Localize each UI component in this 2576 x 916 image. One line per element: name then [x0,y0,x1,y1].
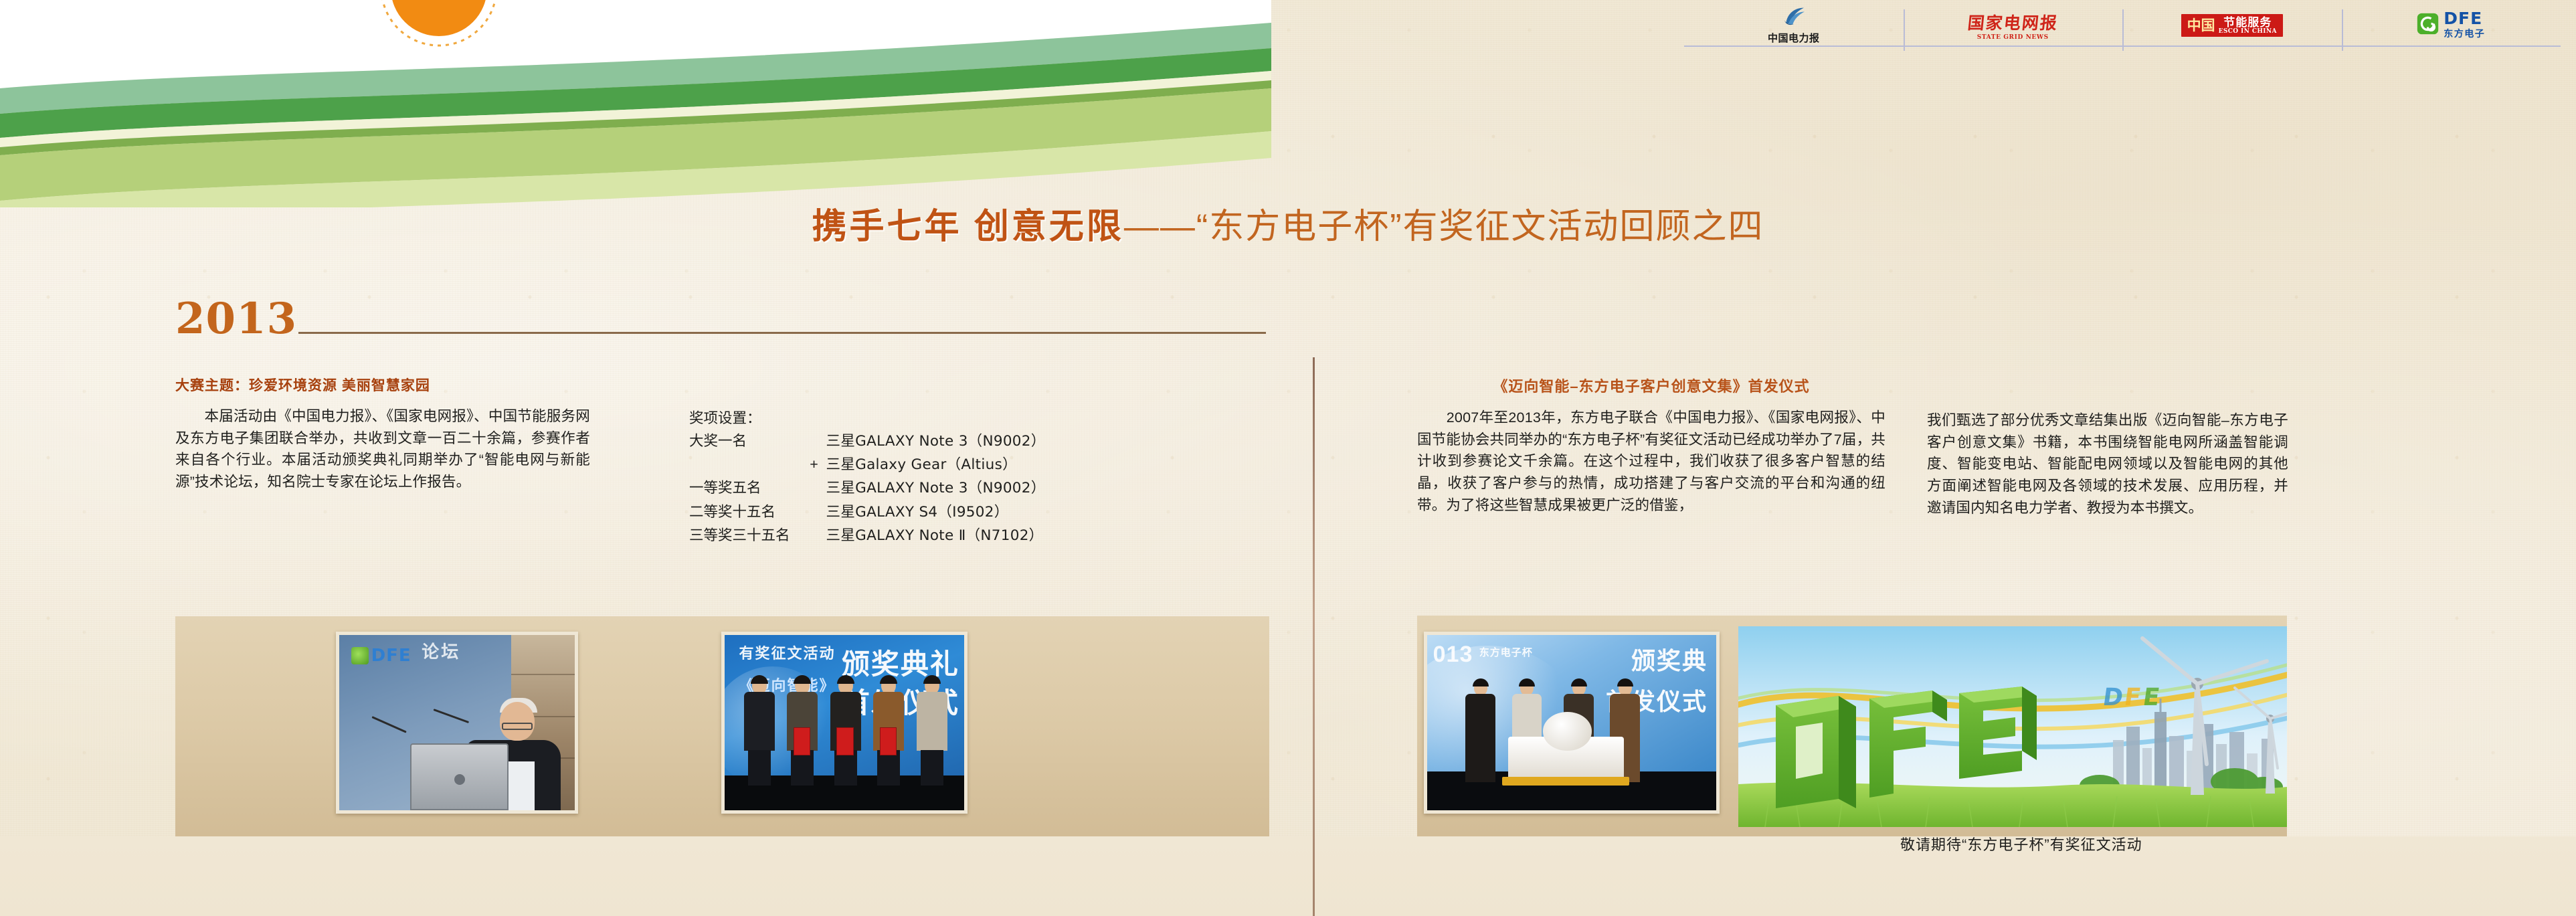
photo3-banner-year: 013 [1433,642,1473,668]
table-row: + 三星Galaxy Gear（Altius） [689,453,1046,476]
table-row: 大奖一名 三星GALAXY Note 3（N9002） [689,430,1046,453]
speaker-at-podium-photo: 论坛 DFE [336,632,578,814]
awards-column: 奖项设置： 大奖一名 三星GALAXY Note 3（N9002） + 三星Ga… [689,407,1245,547]
photo1-banner-text: 论坛 [422,638,460,663]
table-row: 三等奖三十五名 三星GALAXY Note Ⅱ（N7102） [689,524,1046,547]
section-divider [1313,357,1315,916]
photo1-dfe-label: DFE [371,646,411,666]
page-title: 携手七年 创意无限——“东方电子杯”有奖征文活动回顾之四 [0,198,2576,248]
left-column: 大赛主题：珍爱环境资源 美丽智慧家园 本届活动由《中国电力报》、《国家电网报》、… [175,375,590,493]
year-rule-divider [298,332,1266,334]
dfe-green-energy-illustration: D F E [1738,626,2287,827]
award-name: 一等奖五名 [689,476,802,500]
dfe-swirl-icon [2417,13,2439,38]
dfe-label-en: DFE [2444,11,2485,27]
award-plus [802,524,826,547]
award-prize: 三星GALAXY Note Ⅱ（N7102） [826,524,1046,547]
esco-seal-icon: 中国 [2187,19,2215,33]
table-row: 二等奖十五名 三星GALAXY S4（I9502） [689,500,1046,524]
dfe-label-cn: 东方电子 [2444,27,2485,40]
page-title-main: 携手七年 创意无限 [812,207,1123,246]
cepn-mark-icon [1782,7,1805,30]
orange-sun-decoration [372,0,506,55]
sgn-label-cn: 国家电网报 [1966,10,2059,34]
green-swoosh-decoration [0,0,1271,207]
right-column-b: 我们甄选了部分优秀文章结集出版《迈向智能–东方电子客户创意文集》书籍，本书围绕智… [1927,409,2288,519]
award-prize: 三星GALAXY Note 3（N9002） [826,430,1046,453]
award-name: 二等奖十五名 [689,500,802,524]
cepn-label: 中国电力报 [1768,31,1820,45]
awards-title: 奖项设置： [689,407,1245,428]
award-prize: 三星Galaxy Gear（Altius） [826,453,1046,476]
right-column-a: 《迈向智能–东方电子客户创意文集》首发仪式 2007年至2013年，东方电子联合… [1417,375,1885,516]
photo2-banner-line-1: 有奖征文活动 [739,642,835,663]
logo-esco-in-china: 中国 节能服务 ESCO IN CHINA [2122,5,2342,45]
photo3-banner-line-3: 颁奖典 [1631,642,1708,676]
award-name [689,453,802,476]
photo1-dfe-mark-icon [351,647,369,664]
photo3-banner-line-1: 东方电子杯 [1479,647,1533,658]
sponsor-logo-bar: 中国电力报 国家电网报 STATE GRID NEWS 中国 节能服务 ESCO… [1684,5,2561,47]
award-name: 三等奖三十五名 [689,524,802,547]
award-prize: 三星GALAXY Note 3（N9002） [826,476,1046,500]
contest-theme-subtitle: 大赛主题：珍爱环境资源 美丽智慧家园 [175,375,590,395]
book-launch-ceremony-photo: 013 东方电子杯 颁奖典 首发仪式 [1424,632,1720,814]
sgn-label-en: STATE GRID NEWS [1977,34,2049,41]
award-prize: 三星GALAXY S4（I9502） [826,500,1046,524]
book-launch-paragraph-2: 我们甄选了部分优秀文章结集出版《迈向智能–东方电子客户创意文集》书籍，本书围绕智… [1927,409,2288,519]
bottom-note: 敬请期待“东方电子杯”有奖征文活动 [1900,833,2142,854]
awards-table: 大奖一名 三星GALAXY Note 3（N9002） + 三星Galaxy G… [689,430,1046,547]
logo-state-grid-news: 国家电网报 STATE GRID NEWS [1904,5,2123,45]
table-row: 一等奖五名 三星GALAXY Note 3（N9002） [689,476,1046,500]
award-plus [802,500,826,524]
bottom-background-strip [0,836,2576,916]
book-launch-paragraph-1: 2007年至2013年，东方电子联合《中国电力报》、《国家电网报》、中国节能协会… [1417,407,1885,516]
award-name: 大奖一名 [689,430,802,453]
logo-dfe: DFE 东方电子 [2342,5,2561,45]
esco-label-en: ESCO IN CHINA [2219,28,2277,35]
logo-china-electric-power-news: 中国电力报 [1684,5,1904,45]
award-plus [802,476,826,500]
award-plus: + [802,453,826,476]
year-heading-row: 2013 [175,292,1266,340]
award-winners-group-photo: 有奖征文活动 《迈向智能》 颁奖典礼 首发仪式 [721,632,968,814]
award-plus [802,430,826,453]
book-launch-subtitle: 《迈向智能–东方电子客户创意文集》首发仪式 [1417,375,1885,396]
page-title-sub: ——“东方电子杯”有奖征文活动回顾之四 [1124,207,1764,246]
year-heading: 2013 [175,299,297,340]
illustration-watermark: D [2101,682,2125,711]
poster-page: 中国电力报 国家电网报 STATE GRID NEWS 中国 节能服务 ESCO… [0,0,2576,916]
contest-description-paragraph: 本届活动由《中国电力报》、《国家电网报》、中国节能服务网及东方电子集团联合举办，… [175,405,590,493]
esco-label-cn: 节能服务 [2223,17,2272,29]
